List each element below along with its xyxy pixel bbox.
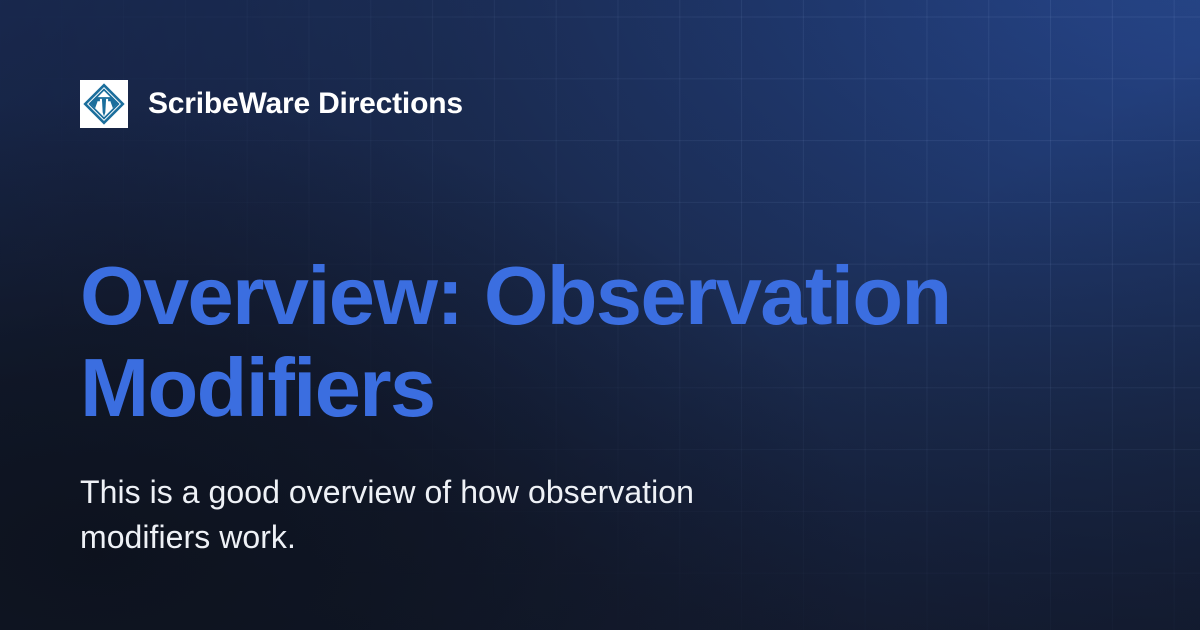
diamond-hammer-icon bbox=[82, 82, 126, 126]
page-title: Overview: Observation Modifiers bbox=[80, 250, 1020, 434]
scribeware-logo bbox=[80, 80, 128, 128]
brand-lockup: ScribeWare Directions bbox=[80, 80, 1120, 128]
page-description: This is a good overview of how observati… bbox=[80, 470, 800, 560]
card-content: ScribeWare Directions Overview: Observat… bbox=[0, 0, 1200, 630]
brand-name: ScribeWare Directions bbox=[148, 89, 463, 119]
og-share-card: ScribeWare Directions Overview: Observat… bbox=[0, 0, 1200, 630]
headline-block: Overview: Observation Modifiers This is … bbox=[80, 250, 1040, 560]
